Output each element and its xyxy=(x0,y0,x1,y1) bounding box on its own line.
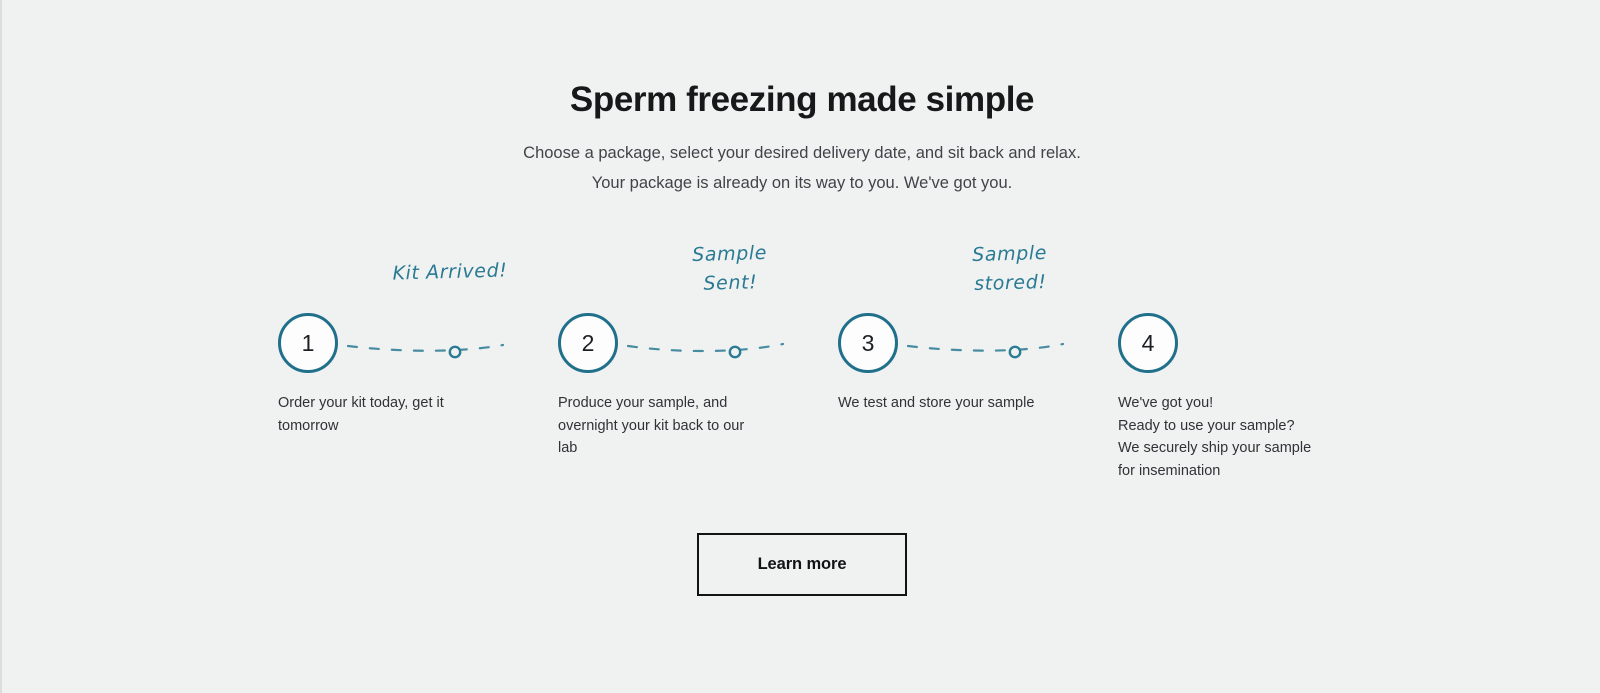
section-header: Sperm freezing made simple Choose a pack… xyxy=(2,78,1600,198)
learn-more-button[interactable]: Learn more xyxy=(697,533,907,596)
connector-marker-1 xyxy=(450,347,460,357)
stepper: Kit Arrived! Sample Sent! Sample stored!… xyxy=(278,240,1328,500)
connector-segment-3-4 xyxy=(908,344,1063,351)
subtitle-line-2: Your package is already on its way to yo… xyxy=(2,168,1600,198)
step-description-3: We test and store your sample xyxy=(838,392,1038,415)
subtitle-line-1: Choose a package, select your desired de… xyxy=(2,138,1600,168)
step-node-1[interactable]: 1 xyxy=(278,313,338,373)
connector-marker-3 xyxy=(1010,347,1020,357)
annotation-sample-sent: Sample Sent! xyxy=(639,237,821,300)
annotation-sample-stored: Sample stored! xyxy=(919,237,1101,300)
step-number-1: 1 xyxy=(302,332,315,355)
subtitle-block: Choose a package, select your desired de… xyxy=(2,138,1600,198)
connector-marker-2 xyxy=(730,347,740,357)
step-number-3: 3 xyxy=(862,332,875,355)
step-description-2: Produce your sample, and overnight your … xyxy=(558,392,758,460)
page-title: Sperm freezing made simple xyxy=(2,78,1600,122)
step-node-4[interactable]: 4 xyxy=(1118,313,1178,373)
cta-container: Learn more xyxy=(2,533,1600,596)
connector-segment-2-3 xyxy=(628,344,783,351)
step-description-1: Order your kit today, get it tomorrow xyxy=(278,392,478,437)
step-node-3[interactable]: 3 xyxy=(838,313,898,373)
connector-segment-1-2 xyxy=(348,345,503,351)
step-description-4: We've got you! Ready to use your sample?… xyxy=(1118,392,1323,482)
step-number-2: 2 xyxy=(582,332,595,355)
step-node-2[interactable]: 2 xyxy=(558,313,618,373)
how-it-works-section: Sperm freezing made simple Choose a pack… xyxy=(2,0,1600,693)
step-number-4: 4 xyxy=(1142,332,1155,355)
annotation-kit-arrived: Kit Arrived! xyxy=(360,255,541,289)
